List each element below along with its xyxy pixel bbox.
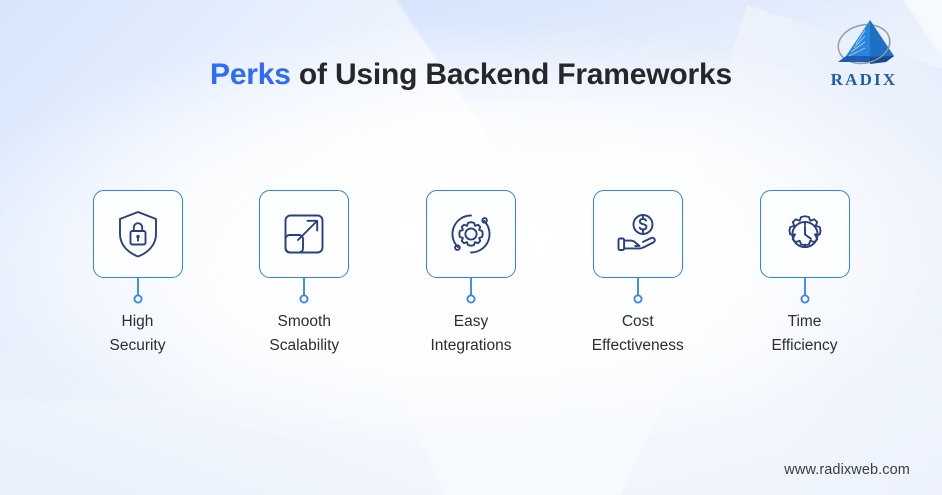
perk-label: Smooth Scalability xyxy=(269,310,339,359)
perk-item-cost-effectiveness[interactable]: Cost Effectiveness xyxy=(570,190,705,359)
perk-connector xyxy=(131,278,145,308)
shield-lock-icon xyxy=(112,208,164,260)
infographic-canvas: RADIX Perks of Using Backend Frameworks xyxy=(0,0,942,495)
perk-icon-tile xyxy=(93,190,183,278)
page-title-accent: Perks xyxy=(210,58,291,91)
perk-icon-tile xyxy=(593,190,683,278)
perk-connector xyxy=(798,278,812,308)
perk-label: High Security xyxy=(110,310,166,359)
perk-item-high-security[interactable]: High Security xyxy=(70,190,205,359)
hand-dollar-coin-icon xyxy=(612,208,664,260)
perk-icon-tile xyxy=(426,190,516,278)
perk-icon-tile xyxy=(259,190,349,278)
perk-item-easy-integrations[interactable]: Easy Integrations xyxy=(404,190,539,359)
perk-connector xyxy=(297,278,311,308)
page-title: Perks of Using Backend Frameworks xyxy=(0,58,942,92)
scalability-arrow-icon xyxy=(278,208,330,260)
perk-item-time-efficiency[interactable]: Time Efficiency xyxy=(737,190,872,359)
gear-clock-icon xyxy=(779,208,831,260)
perk-label: Cost Effectiveness xyxy=(592,310,684,359)
perk-label: Easy Integrations xyxy=(431,310,512,359)
perk-item-smooth-scalability[interactable]: Smooth Scalability xyxy=(237,190,372,359)
website-url[interactable]: www.radixweb.com xyxy=(784,462,910,478)
perk-connector xyxy=(464,278,478,308)
perk-label: Time Efficiency xyxy=(771,310,837,359)
perk-icon-tile xyxy=(760,190,850,278)
perk-connector xyxy=(631,278,645,308)
gear-orbit-icon xyxy=(445,208,497,260)
page-title-rest: of Using Backend Frameworks xyxy=(291,58,732,91)
perks-list: High Security Smooth Scalability xyxy=(70,190,872,359)
